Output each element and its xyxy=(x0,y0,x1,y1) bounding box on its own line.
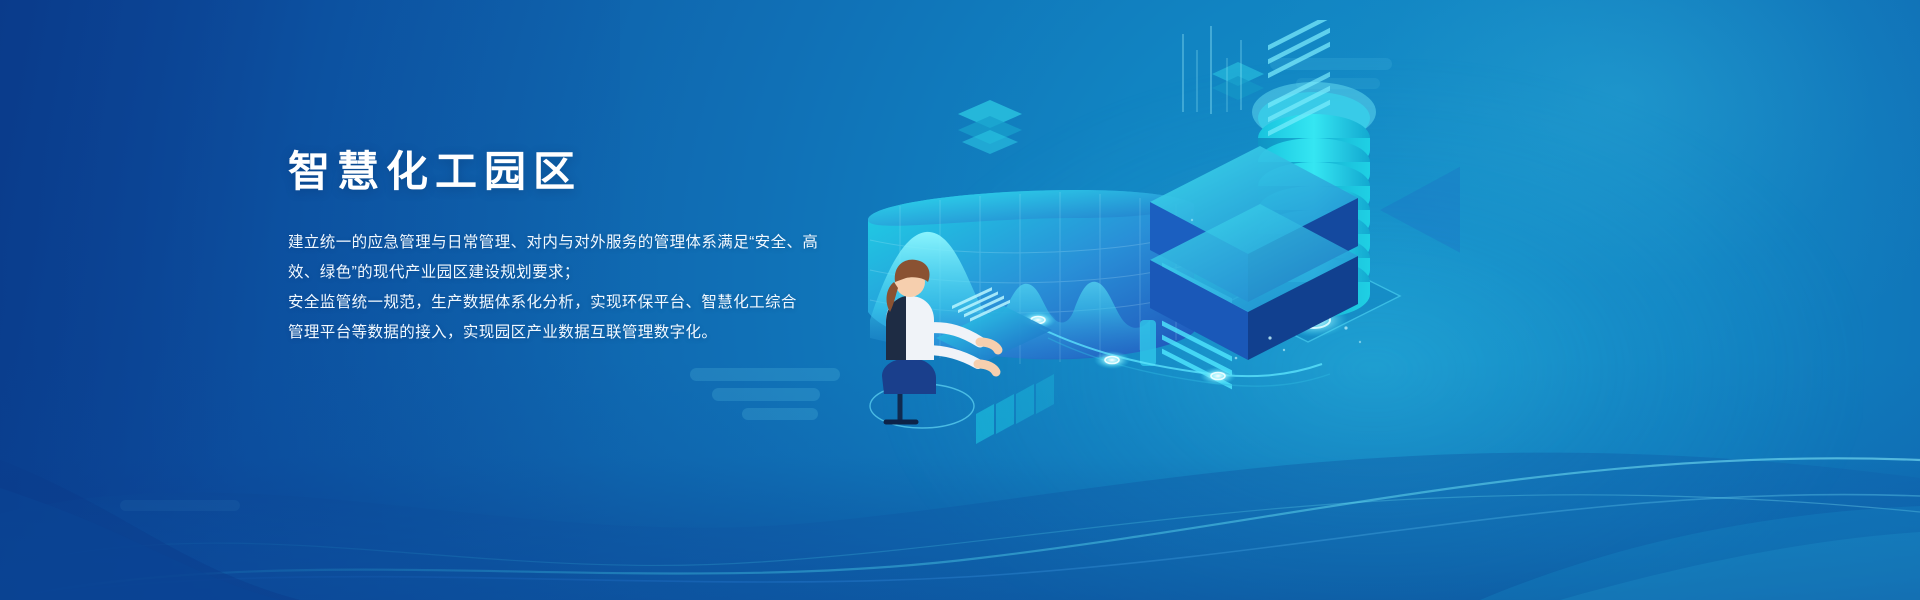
page-title: 智慧化工园区 xyxy=(288,148,888,196)
illustration-smart-park xyxy=(840,20,1460,460)
hero-description-line: 安全监管统一规范，生产数据体系化分析，实现环保平台、智慧化工综合 xyxy=(288,288,888,318)
hero-description: 建立统一的应急管理与日常管理、对内与对外服务的管理体系满足“安全、高 效、绿色”… xyxy=(288,196,888,348)
illustration-svg xyxy=(840,20,1460,460)
decorative-cloud-bar xyxy=(690,368,840,381)
hero-description-line: 效、绿色”的现代产业园区建设规划要求； xyxy=(288,258,888,288)
bar-chart-icon xyxy=(976,374,1054,444)
hero-description-line: 建立统一的应急管理与日常管理、对内与对外服务的管理体系满足“安全、高 xyxy=(288,228,888,258)
decorative-cloud-bar xyxy=(712,388,820,401)
floating-layer-cubes-icon xyxy=(1212,62,1264,100)
decorative-cloud-bar xyxy=(742,408,818,420)
hero-description-line: 管理平台等数据的接入，实现园区产业数据互联管理数字化。 xyxy=(288,318,888,348)
floating-layer-cubes-icon xyxy=(958,100,1022,154)
hero-banner: 智慧化工园区 建立统一的应急管理与日常管理、对内与对外服务的管理体系满足“安全、… xyxy=(0,0,1920,600)
decorative-cloud-bar xyxy=(120,500,240,511)
hero-copy-block: 智慧化工园区 建立统一的应急管理与日常管理、对内与对外服务的管理体系满足“安全、… xyxy=(288,148,888,348)
